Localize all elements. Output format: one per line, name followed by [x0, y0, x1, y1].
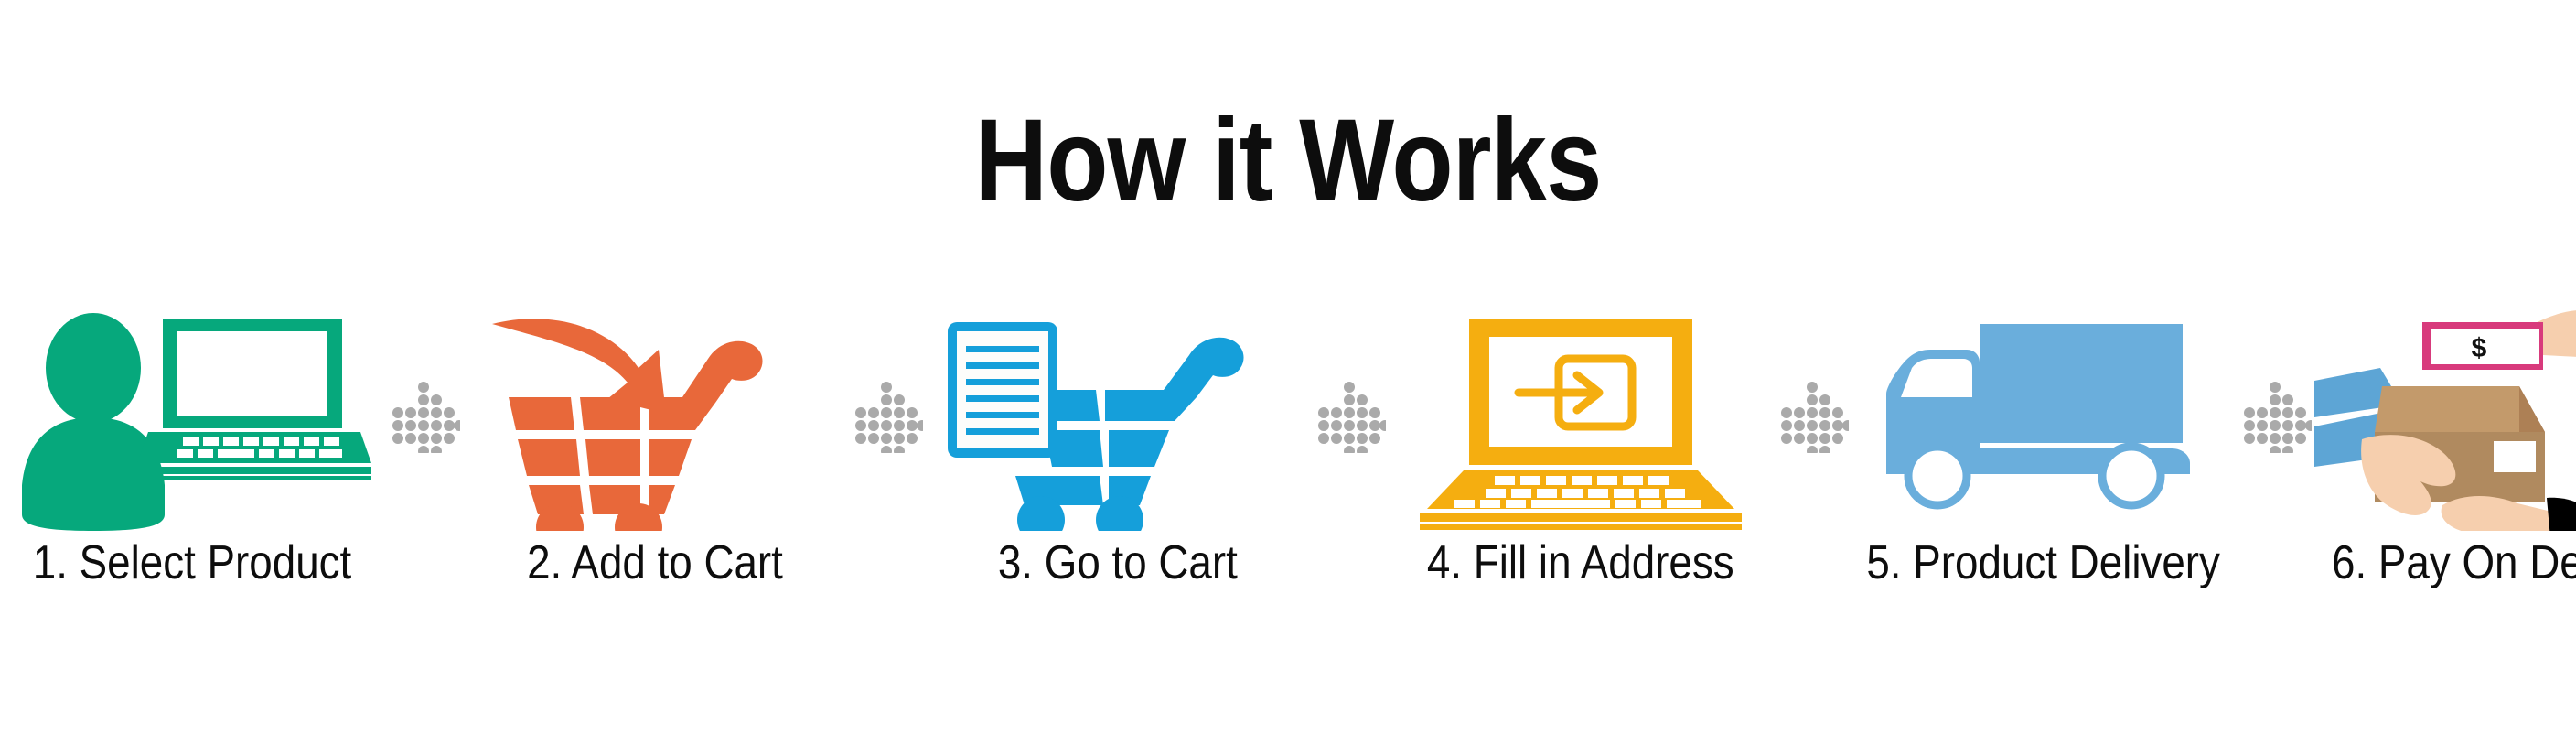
separator-dotted-arrow-4	[1773, 302, 1851, 531]
separator-dotted-arrow-1	[384, 302, 463, 531]
separator-dotted-arrow-5	[2236, 302, 2314, 531]
step-5-label: 5. Product Delivery	[1867, 538, 2221, 588]
curved-arrow-into-shopping-cart-icon	[463, 302, 847, 531]
step-2-add-to-cart[interactable]: 2. Add to Cart	[463, 302, 847, 588]
step-3-label: 3. Go to Cart	[998, 538, 1238, 588]
step-5-product-delivery[interactable]: 5. Product Delivery	[1851, 302, 2236, 588]
separator-dotted-arrow-3	[1310, 302, 1389, 531]
hands-exchanging-box-and-money-icon: $	[2314, 302, 2576, 531]
step-4-label: 4. Fill in Address	[1427, 538, 1734, 588]
steps-row: 1. Select Product	[0, 302, 2576, 650]
separator-dotted-arrow-2	[847, 302, 926, 531]
laptop-with-login-arrow-icon	[1389, 302, 1773, 531]
step-6-pay-on-delivery[interactable]: $ 6. Pay On Delivery	[2314, 302, 2576, 588]
delivery-truck-icon	[1851, 302, 2236, 531]
person-at-laptop-icon	[0, 302, 384, 531]
step-4-fill-in-address[interactable]: 4. Fill in Address	[1389, 302, 1773, 588]
step-6-label: 6. Pay On Delivery	[2332, 538, 2576, 588]
svg-text:$: $	[2472, 333, 2487, 363]
infographic-canvas: How it Works	[0, 0, 2576, 745]
step-1-select-product[interactable]: 1. Select Product	[0, 302, 384, 588]
step-1-label: 1. Select Product	[33, 538, 351, 588]
banknote: $	[2422, 322, 2543, 370]
step-2-label: 2. Add to Cart	[527, 538, 783, 588]
page-title: How it Works	[180, 103, 2396, 220]
step-3-go-to-cart[interactable]: 3. Go to Cart	[926, 302, 1310, 588]
document-with-shopping-cart-icon	[926, 302, 1310, 531]
